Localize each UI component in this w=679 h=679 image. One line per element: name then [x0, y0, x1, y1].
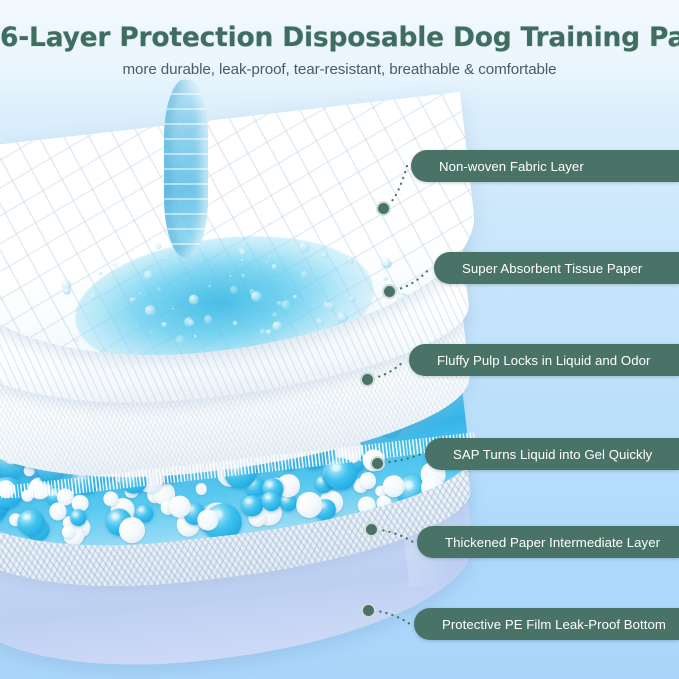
connector-dot-sap-turns-liquid-into-gel	[370, 456, 385, 471]
label-text-super-absorbent-tissue-paper: Super Absorbent Tissue Paper	[462, 261, 642, 276]
water-droplet	[267, 222, 271, 226]
connector-dot-thickened-paper-layer	[364, 522, 379, 537]
sap-white-bead	[195, 483, 207, 495]
water-droplet	[370, 286, 373, 289]
label-text-sap-turns-liquid-into-gel: SAP Turns Liquid into Gel Quickly	[453, 447, 652, 462]
product-layer-illustration	[0, 78, 460, 658]
water-droplet	[341, 311, 345, 315]
label-protective-pe-film[interactable]: Protective PE Film Leak-Proof Bottom	[414, 608, 679, 640]
sap-white-bead	[359, 472, 377, 490]
connector-dot-super-absorbent-tissue-paper	[382, 284, 397, 299]
label-non-woven-fabric-layer[interactable]: Non-woven Fabric Layer	[411, 150, 679, 182]
water-droplet	[322, 252, 328, 258]
water-droplet	[384, 277, 388, 281]
water-droplet	[193, 335, 197, 339]
water-droplet	[98, 271, 102, 275]
water-droplet	[203, 315, 212, 324]
label-fluffy-pulp-locks[interactable]: Fluffy Pulp Locks in Liquid and Odor	[409, 344, 679, 376]
connector-dot-fluffy-pulp-locks	[360, 372, 375, 387]
label-text-thickened-paper-layer: Thickened Paper Intermediate Layer	[445, 535, 660, 550]
water-stream-icon	[164, 78, 208, 258]
water-droplet	[326, 301, 336, 311]
header: 6-Layer Protection Disposable Dog Traini…	[0, 0, 679, 92]
water-droplet	[269, 256, 272, 259]
water-droplet	[265, 329, 272, 336]
page-subtitle: more durable, leak-proof, tear-resistant…	[0, 53, 679, 78]
product-infographic: 6-Layer Protection Disposable Dog Traini…	[0, 0, 679, 679]
water-droplet	[240, 259, 243, 262]
water-droplet	[229, 275, 231, 277]
connector-dot-protective-pe-film	[361, 603, 376, 618]
connector-dot-non-woven-fabric-layer	[376, 201, 391, 216]
water-droplet	[294, 233, 296, 235]
label-super-absorbent-tissue-paper[interactable]: Super Absorbent Tissue Paper	[434, 252, 679, 284]
label-text-fluffy-pulp-locks: Fluffy Pulp Locks in Liquid and Odor	[437, 353, 650, 368]
water-droplet	[165, 256, 169, 260]
water-droplet	[371, 305, 373, 307]
water-droplet	[150, 331, 153, 334]
water-droplet	[143, 270, 154, 281]
label-thickened-paper-layer[interactable]: Thickened Paper Intermediate Layer	[417, 526, 679, 558]
page-title: 6-Layer Protection Disposable Dog Traini…	[0, 0, 679, 53]
water-droplet	[208, 284, 211, 287]
water-droplet	[139, 292, 141, 294]
label-sap-turns-liquid-into-gel[interactable]: SAP Turns Liquid into Gel Quickly	[425, 438, 679, 470]
water-droplet	[75, 338, 79, 342]
label-text-non-woven-fabric-layer: Non-woven Fabric Layer	[439, 159, 584, 174]
water-droplet	[63, 286, 72, 295]
label-text-protective-pe-film: Protective PE Film Leak-Proof Bottom	[442, 617, 666, 632]
water-droplet	[157, 287, 162, 292]
